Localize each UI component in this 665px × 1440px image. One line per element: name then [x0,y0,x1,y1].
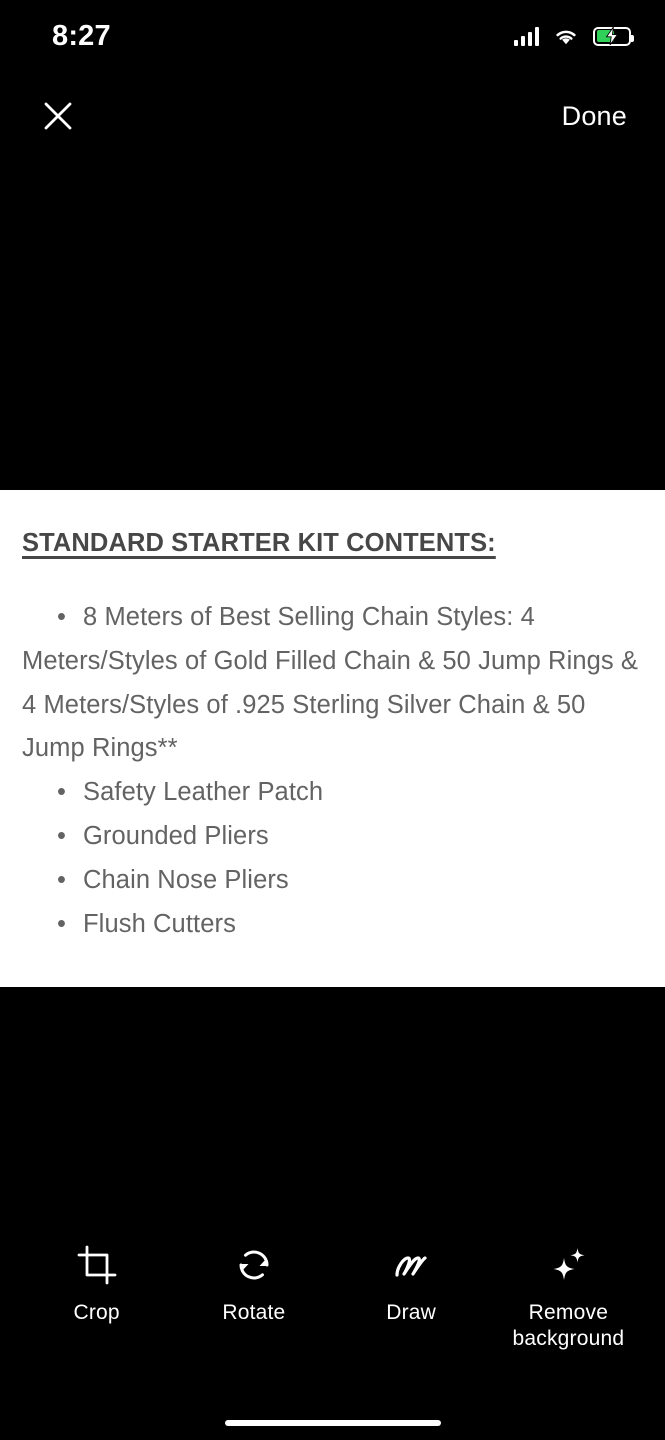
home-indicator [225,1420,441,1426]
list-item: •Safety Leather Patch [22,771,643,815]
tool-label: Rotate [222,1300,285,1326]
kit-contents-list: •8 Meters of Best Selling Chain Styles: … [22,596,643,947]
done-button[interactable]: Done [556,97,633,136]
list-item-text: 8 Meters of Best Selling Chain Styles: 4… [22,603,638,763]
cellular-signal-icon [514,27,540,46]
tool-label: Draw [386,1300,436,1326]
bullet-icon: • [57,771,83,815]
bullet-icon: • [57,596,83,640]
tool-draw[interactable]: Draw [336,1242,486,1326]
bullet-icon: • [57,903,83,947]
tool-rotate[interactable]: Rotate [179,1242,329,1326]
document-heading: STANDARD STARTER KIT CONTENTS: [22,528,643,560]
bullet-icon: • [57,859,83,903]
tool-remove-background[interactable]: Remove background [493,1242,643,1353]
crop-icon [74,1242,120,1288]
list-item: •Grounded Pliers [22,815,643,859]
list-item-text: Flush Cutters [83,910,236,938]
list-item-text: Safety Leather Patch [83,778,323,806]
wifi-icon [553,27,579,46]
status-bar-time: 8:27 [52,22,111,51]
status-bar-icons [514,27,632,46]
tool-label: Remove background [493,1300,643,1353]
status-bar: 8:27 [0,0,665,72]
rotate-icon [231,1242,277,1288]
photo-editor-screen: 8:27 Done [0,0,665,1440]
close-button[interactable] [38,96,78,136]
bullet-icon: • [57,815,83,859]
editor-toolbar: Crop Rotate Draw [0,1242,665,1353]
list-item-text: Grounded Pliers [83,822,269,850]
editor-nav-bar: Done [0,72,665,160]
list-item: •Chain Nose Pliers [22,859,643,903]
close-x-icon [43,101,73,131]
list-item-text: Chain Nose Pliers [83,866,289,894]
draw-scribble-icon [388,1242,434,1288]
charging-bolt-icon [605,27,619,45]
sparkles-icon [545,1242,591,1288]
tool-label: Crop [73,1300,119,1326]
image-canvas[interactable]: STANDARD STARTER KIT CONTENTS: •8 Meters… [0,160,665,1288]
tool-crop[interactable]: Crop [22,1242,172,1326]
battery-charging-icon [593,27,631,46]
document-content-card: STANDARD STARTER KIT CONTENTS: •8 Meters… [0,490,665,987]
list-item: •Flush Cutters [22,903,643,947]
list-item: •8 Meters of Best Selling Chain Styles: … [22,596,643,771]
